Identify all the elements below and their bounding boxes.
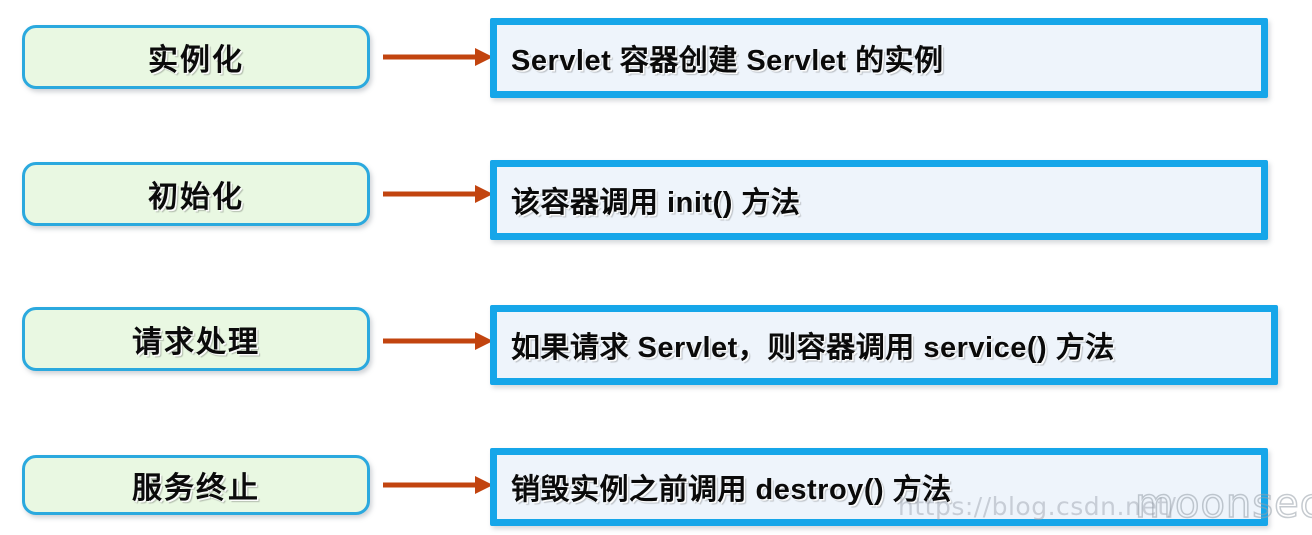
stage-label: 服务终止 (132, 463, 260, 507)
stage-box-service-termination: 服务终止 (22, 455, 370, 515)
description-label: Servlet 容器创建 Servlet 的实例 (497, 37, 944, 79)
stage-box-instantiation: 实例化 (22, 25, 370, 89)
stage-box-request-handling: 请求处理 (22, 307, 370, 371)
description-box-initialization: 该容器调用 init() 方法 (490, 160, 1268, 240)
arrow-right-icon (383, 181, 493, 207)
diagram-canvas: 实例化 Servlet 容器创建 Servlet 的实例 初始化 该容器调用 i… (0, 0, 1312, 535)
stage-box-initialization: 初始化 (22, 162, 370, 226)
stage-label: 请求处理 (132, 317, 260, 361)
description-label: 如果请求 Servlet，则容器调用 service() 方法 (497, 324, 1115, 366)
description-box-service-termination: 销毁实例之前调用 destroy() 方法 (490, 448, 1268, 526)
description-box-request-handling: 如果请求 Servlet，则容器调用 service() 方法 (490, 305, 1278, 385)
arrow-right-icon (383, 44, 493, 70)
arrow-right-icon (383, 328, 493, 354)
arrow-right-icon (383, 472, 493, 498)
description-label: 销毁实例之前调用 destroy() 方法 (497, 466, 952, 508)
stage-label: 初始化 (148, 172, 244, 216)
description-label: 该容器调用 init() 方法 (497, 179, 800, 221)
description-box-instantiation: Servlet 容器创建 Servlet 的实例 (490, 18, 1268, 98)
stage-label: 实例化 (148, 35, 244, 79)
